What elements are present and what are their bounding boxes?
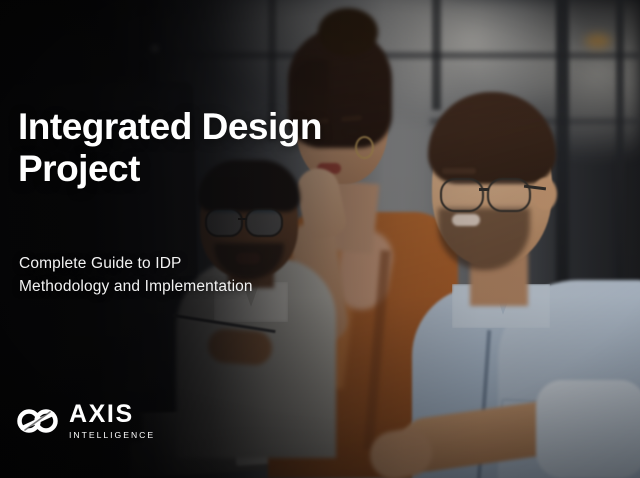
logo-name: AXIS [69, 402, 134, 427]
subtitle-line-2: Methodology and Implementation [19, 278, 253, 295]
brand-logo[interactable]: AXIS INTELLIGENCE [16, 402, 155, 440]
title-line-2: Project [18, 148, 140, 189]
hero-banner: Integrated DesignProject Complete Guide … [0, 0, 640, 478]
logo-wordmark: AXIS INTELLIGENCE [69, 402, 155, 440]
banner-content: Integrated DesignProject Complete Guide … [0, 0, 640, 478]
page-title: Integrated DesignProject [18, 106, 358, 190]
infinity-rings-icon [16, 406, 60, 436]
title-line-1: Integrated Design [18, 106, 322, 147]
subtitle-line-1: Complete Guide to IDP [19, 255, 182, 272]
page-subtitle: Complete Guide to IDPMethodology and Imp… [19, 252, 359, 299]
logo-tagline: INTELLIGENCE [69, 431, 155, 440]
